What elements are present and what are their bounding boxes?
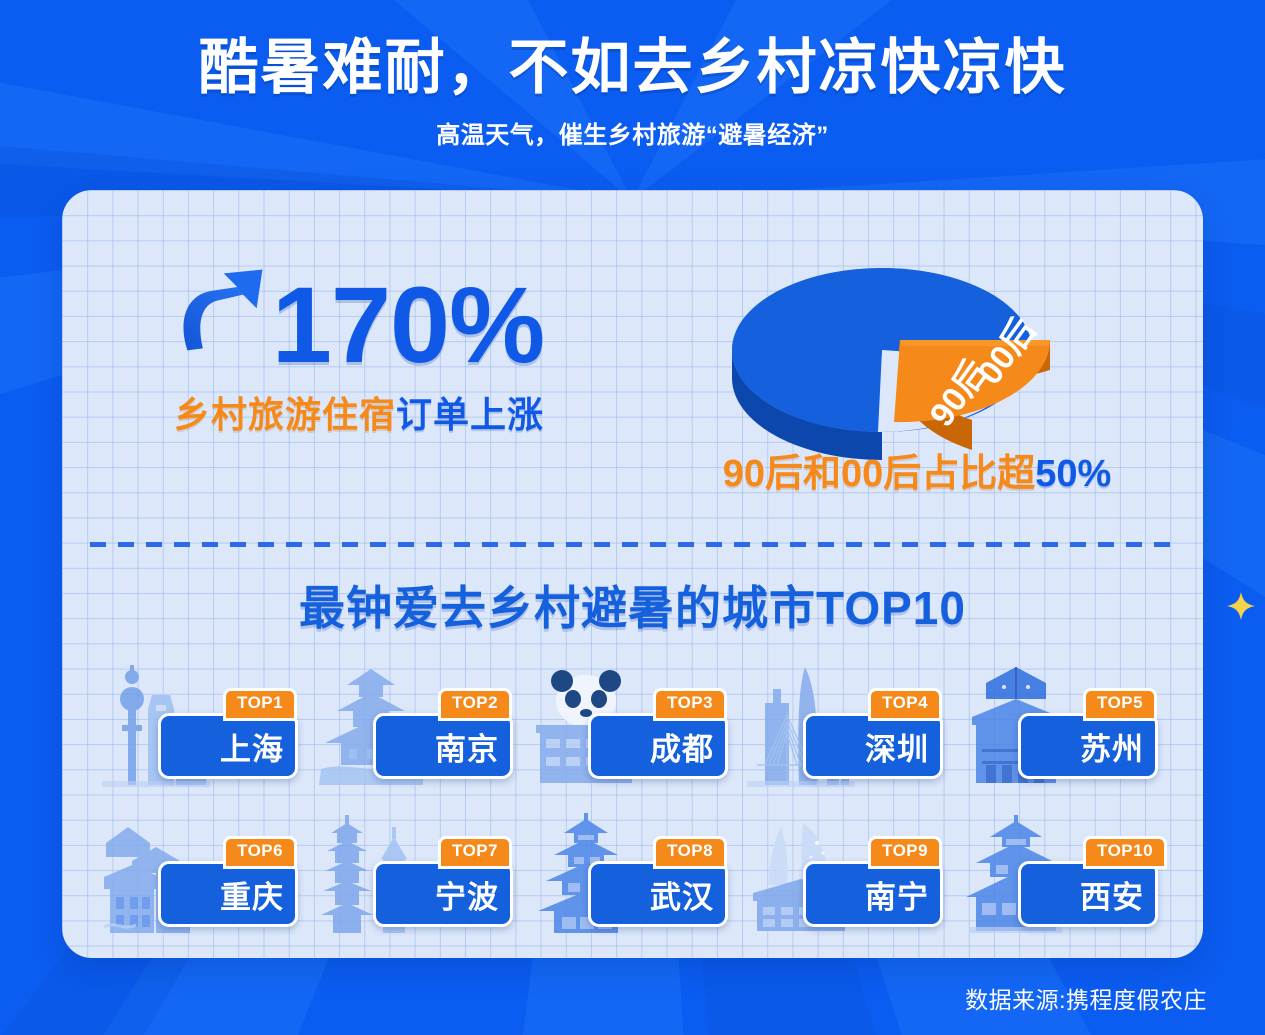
city-name: 深圳 <box>865 724 929 769</box>
city-card[interactable]: TOP7 宁波 <box>311 793 526 941</box>
pie-chart-caption: 90后和00后占比超50% <box>652 442 1182 497</box>
city-name-bar[interactable]: 上海 <box>158 713 298 779</box>
stat-caption-highlight: 乡村旅游住宿 <box>174 394 396 435</box>
section-title: 最钟爱去乡村避暑的城市TOP10 <box>62 572 1203 638</box>
city-ranking-grid: TOP1 上海 <box>96 645 1171 941</box>
city-card[interactable]: TOP4 深圳 <box>741 645 956 793</box>
city-card[interactable]: TOP8 武汉 <box>526 793 741 941</box>
rank-badge: TOP1 <box>223 688 297 721</box>
section-divider <box>90 542 1175 547</box>
city-card[interactable]: TOP2 南京 <box>311 645 526 793</box>
city-name: 南宁 <box>865 872 929 917</box>
city-name: 宁波 <box>435 872 499 917</box>
stat-caption: 乡村旅游住宿订单上涨 <box>124 386 594 438</box>
rank-badge: TOP2 <box>438 688 512 721</box>
stat-growth-block: 170% 乡村旅游住宿订单上涨 <box>124 262 594 438</box>
city-card[interactable]: TOP9 南宁 <box>741 793 956 941</box>
pie-caption-highlight: 90后和00后占比超 <box>723 453 1036 495</box>
rank-badge: TOP7 <box>438 836 512 869</box>
city-name: 南京 <box>435 724 499 769</box>
city-card: TOP5 苏州 <box>956 645 1171 793</box>
city-name-bar[interactable]: 深圳 <box>803 713 943 779</box>
pie-caption-value: 50% <box>1035 453 1111 495</box>
city-name-bar[interactable]: 重庆 <box>158 861 298 927</box>
city-card[interactable]: TOP6 重庆 <box>96 793 311 941</box>
city-name-bar[interactable]: 南宁 <box>803 861 943 927</box>
data-source-note: 数据来源:携程度假农庄 <box>965 981 1207 1015</box>
city-card[interactable]: TOP3 成都 <box>526 645 741 793</box>
city-name-bar[interactable]: 成都 <box>588 713 728 779</box>
rank-badge: TOP4 <box>868 688 942 721</box>
stat-value: 170% <box>272 275 544 374</box>
page-subtitle: 高温天气，催生乡村旅游“避暑经济” <box>0 101 1265 150</box>
city-name-bar[interactable]: 南京 <box>373 713 513 779</box>
header: 酷暑难耐，不如去乡村凉快凉快 高温天气，催生乡村旅游“避暑经济” <box>0 0 1265 150</box>
city-name-bar[interactable]: 武汉 <box>588 861 728 927</box>
city-card[interactable]: TOP1 上海 <box>96 645 311 793</box>
rank-badge: TOP8 <box>653 836 727 869</box>
city-name-bar[interactable]: 西安 <box>1018 861 1158 927</box>
page-title: 酷暑难耐，不如去乡村凉快凉快 <box>0 0 1265 101</box>
city-name: 武汉 <box>650 872 714 917</box>
stat-caption-rest: 订单上涨 <box>396 394 544 435</box>
rank-badge: TOP6 <box>223 836 297 869</box>
city-name-bar[interactable]: 苏州 <box>1018 713 1158 779</box>
city-name-bar[interactable]: 宁波 <box>373 861 513 927</box>
city-name: 成都 <box>650 724 714 769</box>
rank-badge: TOP3 <box>653 688 727 721</box>
sparkle-star-icon <box>1227 592 1255 620</box>
content-card: 170% 乡村旅游住宿订单上涨 <box>62 190 1203 958</box>
city-name: 西安 <box>1080 872 1144 917</box>
city-name: 重庆 <box>220 872 284 917</box>
arrow-up-right-icon <box>174 262 270 358</box>
rank-badge: TOP10 <box>1083 836 1167 869</box>
city-name: 上海 <box>220 724 284 769</box>
city-name: 苏州 <box>1080 724 1144 769</box>
rank-badge: TOP9 <box>868 836 942 869</box>
rank-badge: TOP5 <box>1083 688 1157 721</box>
city-card[interactable]: TOP10 西安 <box>956 793 1171 941</box>
